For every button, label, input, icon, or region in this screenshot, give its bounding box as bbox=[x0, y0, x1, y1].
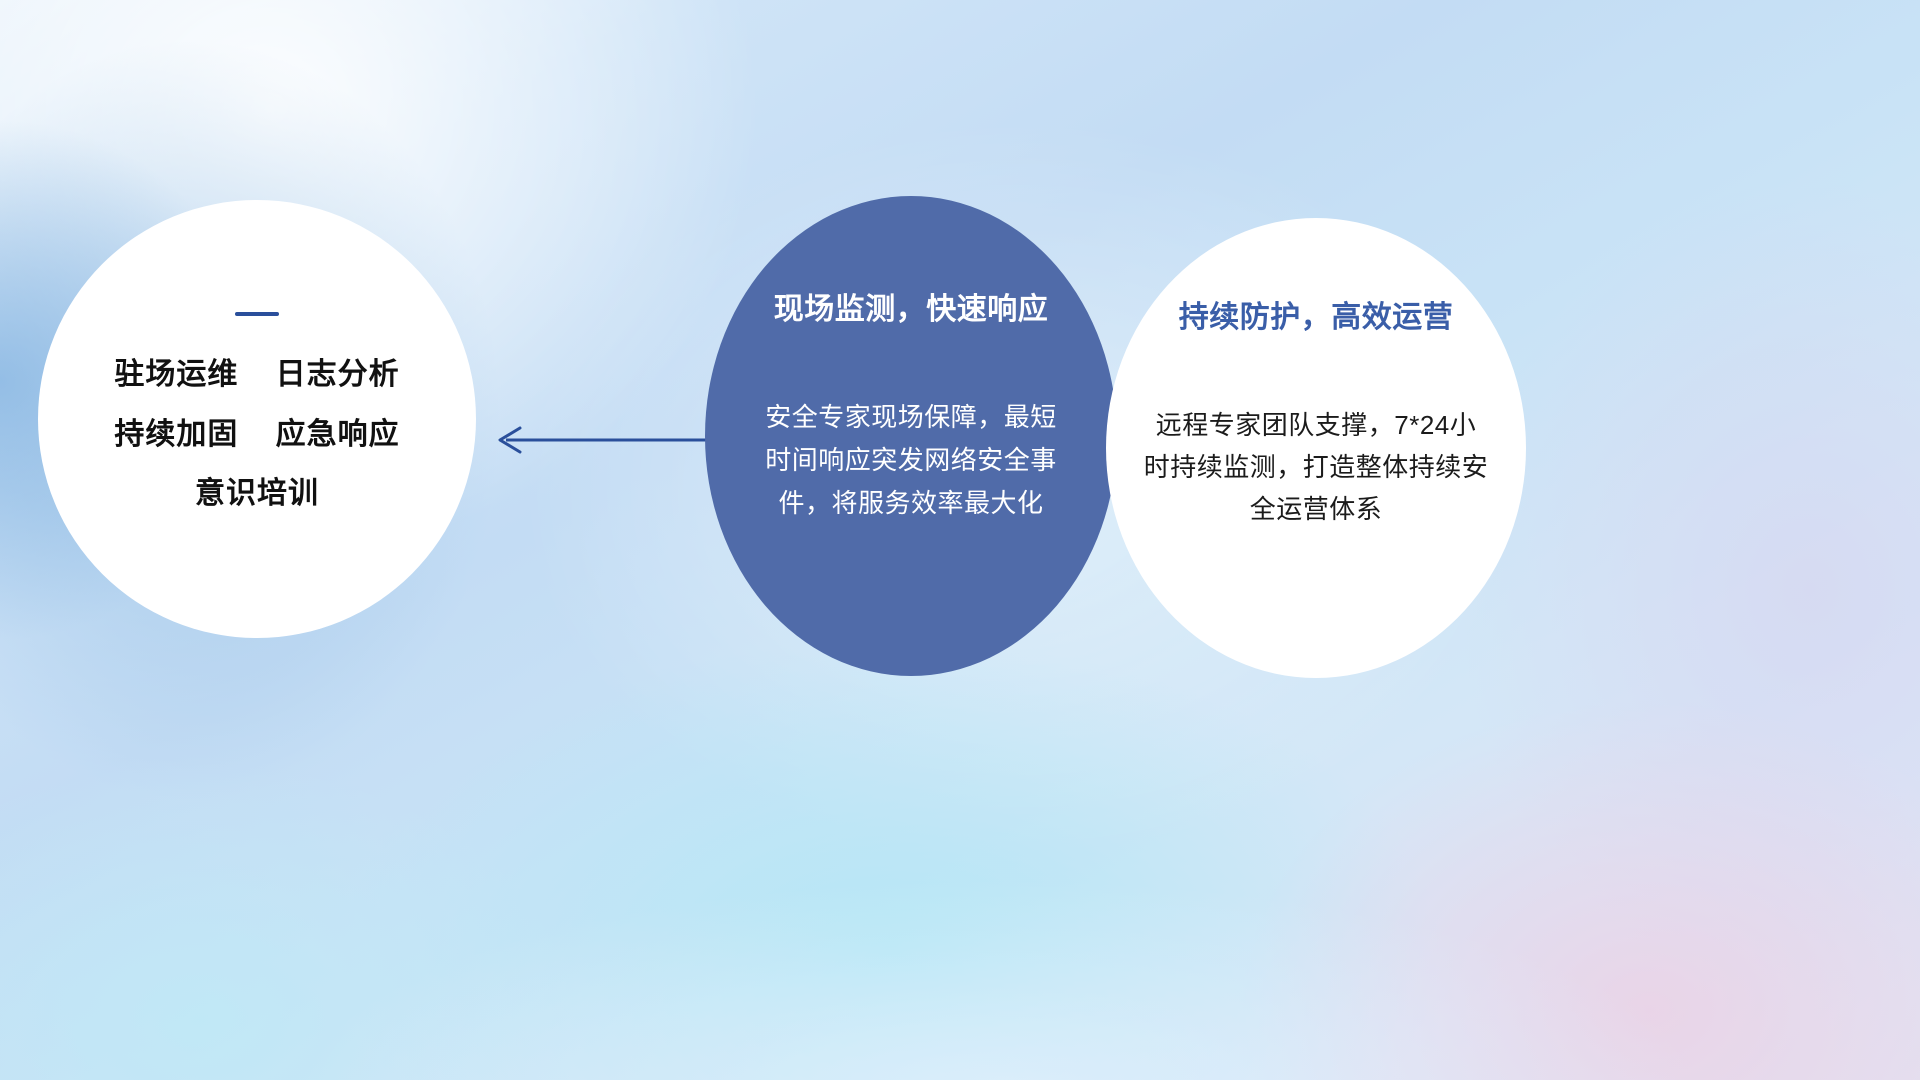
background-cyan-accent-bottom-left bbox=[0, 760, 580, 1080]
onsite-monitoring-body: 安全专家现场保障，最短时间响应突发网络安全事件，将服务效率最大化 bbox=[761, 396, 1061, 525]
left-circle-line-1: 驻场运维 日志分析 bbox=[114, 356, 399, 394]
continuous-protection-title: 持续防护，高效运营 bbox=[1179, 300, 1454, 336]
background-lavender-right bbox=[1460, 180, 1920, 1000]
left-capability-circle[interactable]: 驻场运维 日志分析 持续加固 应急响应 意识培训 bbox=[38, 200, 476, 638]
background-cyan-pool bbox=[340, 640, 1440, 1080]
onsite-monitoring-circle[interactable]: 现场监测，快速响应 安全专家现场保障，最短时间响应突发网络安全事件，将服务效率最… bbox=[705, 196, 1117, 676]
onsite-monitoring-title: 现场监测，快速响应 bbox=[774, 292, 1049, 328]
continuous-protection-circle[interactable]: 持续防护，高效运营 远程专家团队支撑，7*24小时持续监测，打造整体持续安全运营… bbox=[1106, 218, 1526, 678]
connector-arrow bbox=[490, 415, 720, 465]
continuous-protection-body: 远程专家团队支撑，7*24小时持续监测，打造整体持续安全运营体系 bbox=[1144, 404, 1489, 530]
background-bottom-fade bbox=[300, 880, 1700, 1080]
left-circle-line-3: 意识培训 bbox=[195, 475, 319, 513]
slide-canvas: 驻场运维 日志分析 持续加固 应急响应 意识培训 现场监测，快速响应 安全专家现… bbox=[0, 0, 1920, 1080]
background-pink-bottom-right bbox=[1240, 700, 1920, 1080]
divider-dash-icon bbox=[235, 312, 279, 316]
left-circle-line-2: 持续加固 应急响应 bbox=[114, 416, 399, 454]
